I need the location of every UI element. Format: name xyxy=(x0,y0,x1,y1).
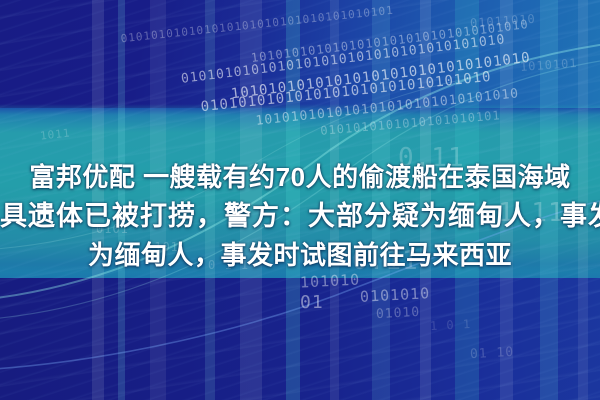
news-banner-image: 0101010101010101010101010101010101011010… xyxy=(0,0,600,400)
headline-line-1: 富邦优配 一艘载有约70人的偷渡船在泰国海域 xyxy=(0,158,600,197)
headline-line-3: 为缅甸人，事发时试图前往马来西亚 xyxy=(0,236,600,275)
headline: 富邦优配 一艘载有约70人的偷渡船在泰国海域 具遗体已被打捞，警方：大部分疑为缅… xyxy=(0,158,600,275)
headline-line-2: 具遗体已被打捞，警方：大部分疑为缅甸人，事发时试图 xyxy=(0,197,600,236)
